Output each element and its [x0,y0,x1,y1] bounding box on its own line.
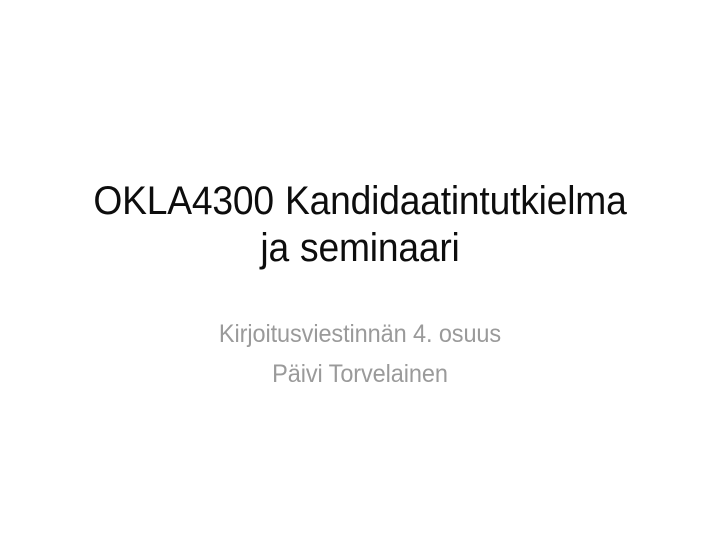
slide-title: OKLA4300 Kandidaatintutkielma ja seminaa… [75,178,644,272]
title-placeholder: OKLA4300 Kandidaatintutkielma ja seminaa… [54,178,666,272]
subtitle-line-course-part: Kirjoitusviestinnän 4. osuus [106,314,614,354]
subtitle-placeholder: Kirjoitusviestinnän 4. osuus Päivi Torve… [90,314,630,394]
title-slide: OKLA4300 Kandidaatintutkielma ja seminaa… [0,0,720,540]
subtitle-line-author: Päivi Torvelainen [106,354,614,394]
